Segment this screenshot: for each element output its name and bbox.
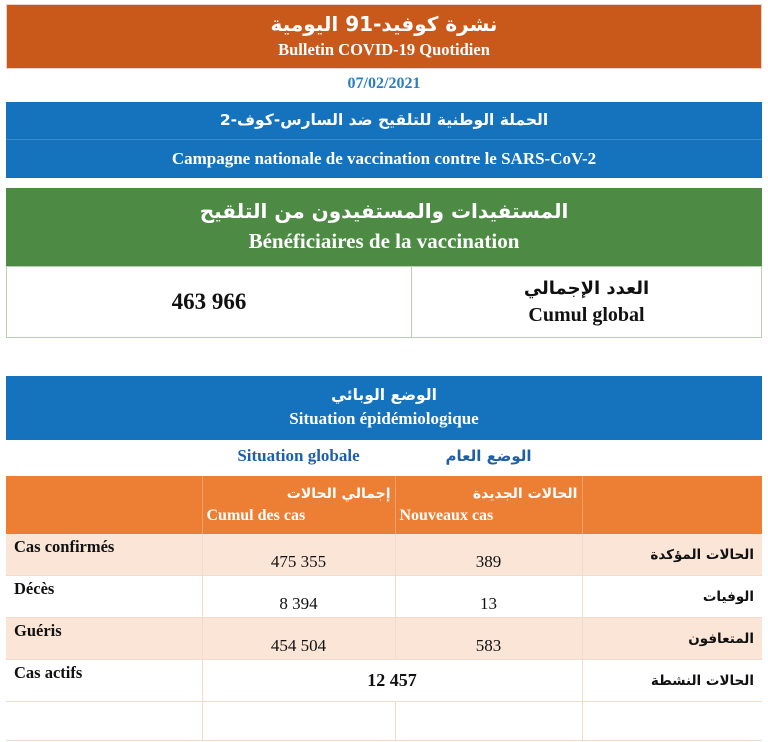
header-cell-new: الحالات الجديدة Nouveaux cas [395, 476, 582, 534]
row-cumul-value: 475 355 [202, 534, 395, 576]
header-cumul-arabic: إجمالي الحالات [207, 484, 391, 505]
table-bottom-spacer-row [6, 702, 762, 741]
row-label-arabic: الوفيات [582, 576, 762, 618]
situation-globale-label: Situation globale [202, 446, 395, 466]
row-label-french: Décès [6, 576, 202, 618]
row-label-arabic: الحالات المؤكدة [582, 534, 762, 576]
header-cumul-french: Cumul des cas [207, 505, 391, 527]
header-new-french: Nouveaux cas [400, 505, 578, 527]
campaign-row-arabic: الحملة الوطنية للتلقيح ضد السارس-كوف-2 [6, 102, 762, 140]
row-label-arabic: المتعافون [582, 618, 762, 660]
campaign-title-french: Campagne nationale de vaccination contre… [172, 149, 596, 168]
epidemiology-table: إجمالي الحالات Cumul des cas الحالات الج… [6, 476, 762, 741]
row-active-merged-value: 12 457 [202, 660, 582, 702]
epidemiology-heading-french: Situation épidémiologique [6, 407, 762, 431]
table-row: Cas confirmés 475 355 389 الحالات المؤكد… [6, 534, 762, 576]
vaccination-total-label-french: Cumul global [413, 302, 760, 329]
spacer-cell [395, 702, 582, 741]
bulletin-header: نشرة كوفيد-19 اليومية Bulletin COVID-19 … [6, 4, 762, 69]
row-cumul-value: 8 394 [202, 576, 395, 618]
spacer-cell [582, 702, 762, 741]
campaign-title-arabic: الحملة الوطنية للتلقيح ضد السارس-كوف-2 [220, 111, 548, 129]
vaccination-heading-arabic: المستفيدات والمستفيدون من التلقيح [6, 196, 762, 226]
vaccination-total-row: 463 966 العدد الإجمالي Cumul global [7, 267, 762, 338]
situation-globale-label-arabic: الوضع العام [395, 447, 582, 465]
row-new-value: 389 [395, 534, 582, 576]
row-new-value: 583 [395, 618, 582, 660]
situation-subtitle-row: Situation globale الوضع العام [6, 440, 762, 476]
epidemiology-heading-arabic: الوضع الوبائي [6, 383, 762, 407]
campaign-row-french: Campagne nationale de vaccination contre… [6, 140, 762, 178]
header-cell-cumul: إجمالي الحالات Cumul des cas [202, 476, 395, 534]
campaign-banner: الحملة الوطنية للتلقيح ضد السارس-كوف-2 C… [6, 102, 762, 178]
spacer-cell [6, 702, 202, 741]
vaccination-table: 463 966 العدد الإجمالي Cumul global [6, 266, 762, 338]
vaccination-banner: المستفيدات والمستفيدون من التلقيح Bénéfi… [6, 188, 762, 266]
row-label-french: Cas confirmés [6, 534, 202, 576]
table-row: Guéris 454 504 583 المتعافون [6, 618, 762, 660]
bulletin-title-arabic: نشرة كوفيد-19 اليومية [7, 11, 761, 38]
row-label-arabic: الحالات النشطة [582, 660, 762, 702]
row-cumul-value: 454 504 [202, 618, 395, 660]
table-row: Cas actifs 12 457 الحالات النشطة [6, 660, 762, 702]
bulletin-title-french: Bulletin COVID-19 Quotidien [7, 38, 761, 61]
header-new-arabic: الحالات الجديدة [400, 484, 578, 505]
table-header-row: إجمالي الحالات Cumul des cas الحالات الج… [6, 476, 762, 534]
spacer-cell [202, 702, 395, 741]
epidemiology-banner: الوضع الوبائي Situation épidémiologique [6, 376, 762, 440]
vaccination-total-label-arabic: العدد الإجمالي [413, 276, 760, 302]
vaccination-total-value: 463 966 [7, 267, 412, 338]
bulletin-page: نشرة كوفيد-19 اليومية Bulletin COVID-19 … [0, 4, 768, 742]
row-new-value: 13 [395, 576, 582, 618]
vaccination-total-label-cell: العدد الإجمالي Cumul global [412, 267, 762, 338]
row-label-french: Guéris [6, 618, 202, 660]
row-label-french: Cas actifs [6, 660, 202, 702]
vaccination-heading-french: Bénéficiaires de la vaccination [6, 226, 762, 256]
table-row: Décès 8 394 13 الوفيات [6, 576, 762, 618]
header-cell-label-french [6, 476, 202, 534]
bulletin-date: 07/02/2021 [0, 69, 768, 97]
header-cell-label-arabic [582, 476, 762, 534]
